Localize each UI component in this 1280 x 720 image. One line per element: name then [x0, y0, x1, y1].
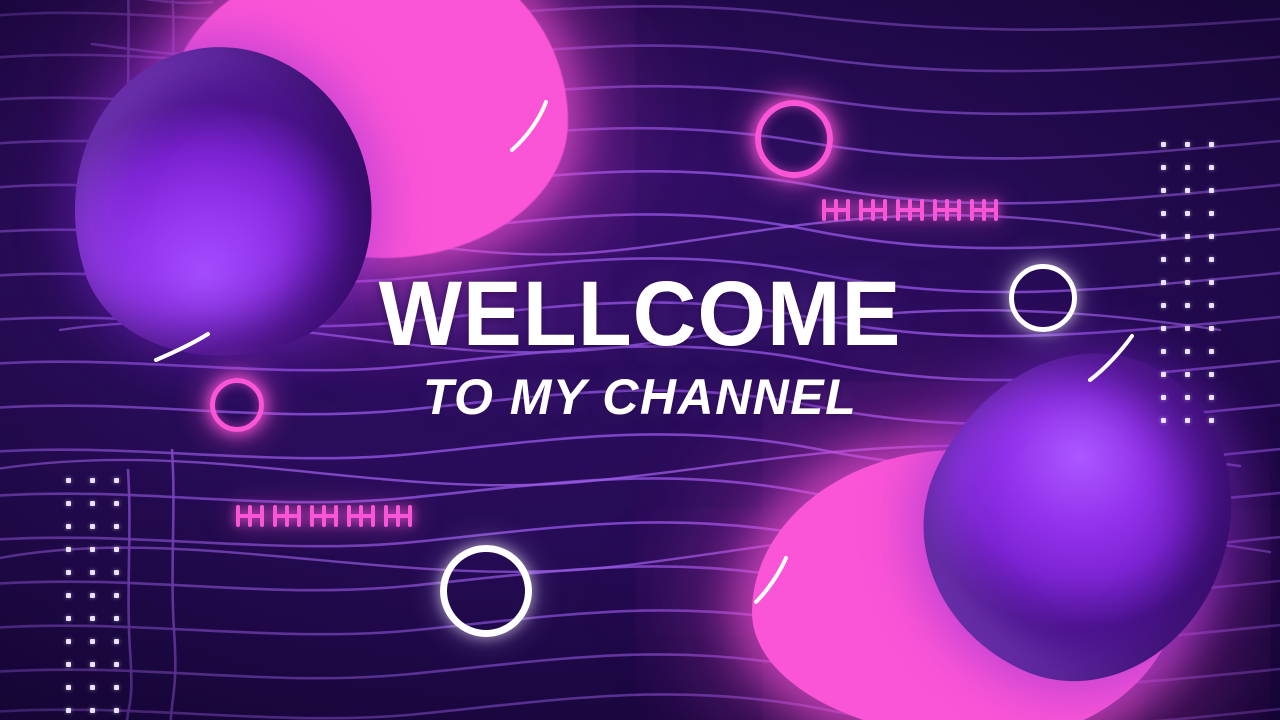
headline-text: WELLCOME	[26, 270, 1255, 358]
grid-dot	[1185, 234, 1190, 239]
grid-dot	[1161, 142, 1166, 147]
subheadline-text: TO MY CHANNEL	[0, 372, 1280, 422]
grid-dot	[1209, 142, 1214, 147]
grid-dot	[114, 593, 119, 598]
grid-dot	[90, 593, 95, 598]
grid-dot	[1185, 142, 1190, 147]
grid-dot	[1161, 257, 1166, 262]
grid-dot	[1161, 188, 1166, 193]
tally-marks-bottom-left	[236, 505, 412, 527]
grid-dot	[90, 478, 95, 483]
grid-dot	[66, 662, 71, 667]
grid-dot	[90, 524, 95, 529]
title-block: WELLCOME TO MY CHANNEL	[0, 270, 1280, 422]
grid-dot	[90, 685, 95, 690]
grid-dot	[114, 708, 119, 713]
grid-dot	[90, 501, 95, 506]
ring-white-bottom	[440, 545, 532, 637]
tally-marks-top-right	[822, 199, 998, 221]
grid-dot	[1185, 211, 1190, 216]
grid-dot	[1209, 188, 1214, 193]
grid-dot	[66, 616, 71, 621]
grid-dot	[1185, 188, 1190, 193]
grid-dot	[114, 570, 119, 575]
grid-dot	[114, 501, 119, 506]
grid-dot	[114, 524, 119, 529]
grid-dot	[66, 685, 71, 690]
swoosh-top-center	[500, 96, 560, 158]
grid-dot	[114, 547, 119, 552]
grid-dot	[1185, 165, 1190, 170]
grid-dot	[114, 662, 119, 667]
grid-dot	[90, 662, 95, 667]
grid-dot	[114, 478, 119, 483]
grid-dot	[1209, 165, 1214, 170]
grid-dot	[66, 570, 71, 575]
grid-dot	[1209, 211, 1214, 216]
swoosh-bottom-center	[750, 552, 802, 610]
grid-dot	[1209, 257, 1214, 262]
grid-dot	[66, 478, 71, 483]
grid-dot	[1209, 234, 1214, 239]
grid-dot	[114, 639, 119, 644]
grid-dot	[114, 616, 119, 621]
ring-pink-top	[755, 100, 833, 178]
grid-dot	[66, 593, 71, 598]
grid-dot	[90, 570, 95, 575]
welcome-banner: WELLCOME TO MY CHANNEL	[0, 0, 1280, 720]
grid-dot	[66, 524, 71, 529]
grid-dot	[1161, 211, 1166, 216]
grid-dot	[66, 639, 71, 644]
grid-dot	[90, 616, 95, 621]
grid-dot	[66, 547, 71, 552]
grid-dot	[90, 639, 95, 644]
grid-dot	[1161, 165, 1166, 170]
grid-dot	[90, 547, 95, 552]
grid-dot	[66, 501, 71, 506]
grid-dot	[1161, 234, 1166, 239]
grid-dot	[90, 708, 95, 713]
grid-dot	[1185, 257, 1190, 262]
grid-dot	[66, 708, 71, 713]
dot-grid-left	[66, 478, 119, 720]
grid-dot	[114, 685, 119, 690]
